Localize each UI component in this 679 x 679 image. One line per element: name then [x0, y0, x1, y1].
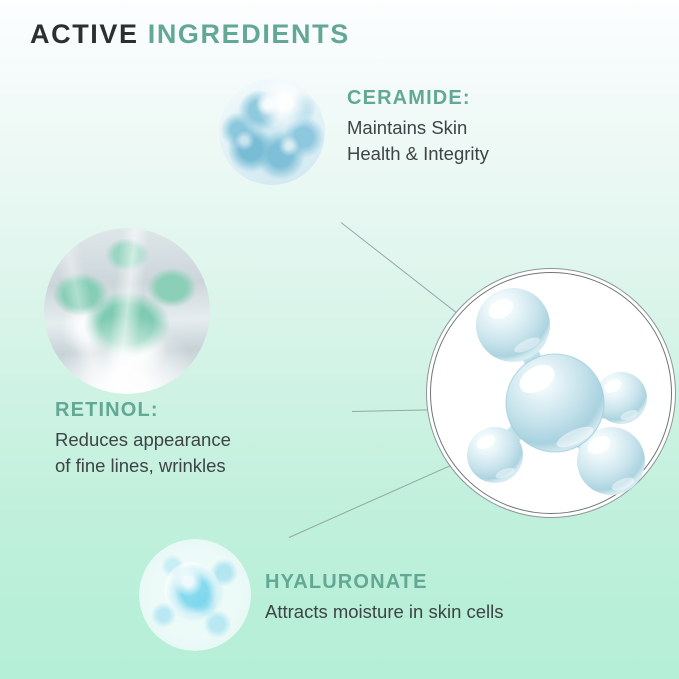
ceramide-description: Maintains Skin Health & Integrity: [347, 115, 489, 166]
hyaluronate-bubble-thumbnail: [139, 539, 251, 651]
page-title-part-2: INGREDIENTS: [148, 19, 350, 49]
retinol-text-block: RETINOL: Reduces appearance of fine line…: [55, 398, 231, 478]
retinol-description: Reduces appearance of fine lines, wrinkl…: [55, 427, 231, 478]
ceramide-text-block: CERAMIDE: Maintains Skin Health & Integr…: [347, 86, 489, 166]
hyaluronate-thumbnail: [139, 539, 251, 651]
page-title-part-1: ACTIVE: [30, 19, 139, 49]
page-title: ACTIVE INGREDIENTS: [30, 20, 350, 48]
hyaluronate-description: Attracts moisture in skin cells: [265, 599, 504, 625]
hero-molecule-circle: [430, 272, 672, 514]
retinol-domes-thumbnail: [44, 228, 210, 394]
infographic-canvas: ACTIVE INGREDIENTS: [0, 0, 679, 679]
hyaluronate-name: HYALURONATE: [265, 570, 504, 594]
ceramide-thumbnail: [219, 79, 325, 185]
retinol-name: RETINOL:: [55, 398, 231, 422]
hyaluronate-text-block: HYALURONATE Attracts moisture in skin ce…: [265, 570, 504, 625]
molecule-illustration: [431, 273, 671, 513]
ceramide-molecule-thumbnail: [219, 79, 325, 185]
retinol-thumbnail: [44, 228, 210, 394]
ceramide-name: CERAMIDE:: [347, 86, 489, 110]
